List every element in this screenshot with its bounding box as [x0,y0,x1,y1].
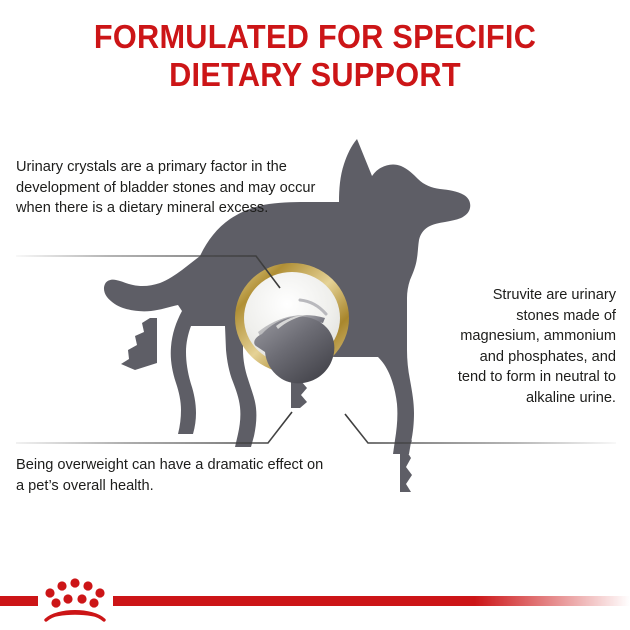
callout-top-left-text: Urinary crystals are a primary factor in… [16,157,322,219]
callout-right: Struvite are urinary stones made of magn… [448,285,616,408]
footer-bar-right [113,596,630,606]
callout-bottom-left: Being overweight can have a dramatic eff… [16,455,326,496]
royal-canin-crown-icon [45,578,104,620]
footer-bar-left [0,596,38,606]
callout-top-left: Urinary crystals are a primary factor in… [16,157,322,219]
leader-line-bottom-left [16,412,292,443]
infographic-page: FORMULATED FOR SPECIFIC DIETARY SUPPORT [0,0,630,630]
leader-line-right [345,414,616,443]
callout-bottom-left-text: Being overweight can have a dramatic eff… [16,455,326,496]
callout-right-text: Struvite are urinary stones made of magn… [448,285,616,408]
leader-line-top-left [16,256,280,288]
footer-brand-bar [0,560,630,630]
